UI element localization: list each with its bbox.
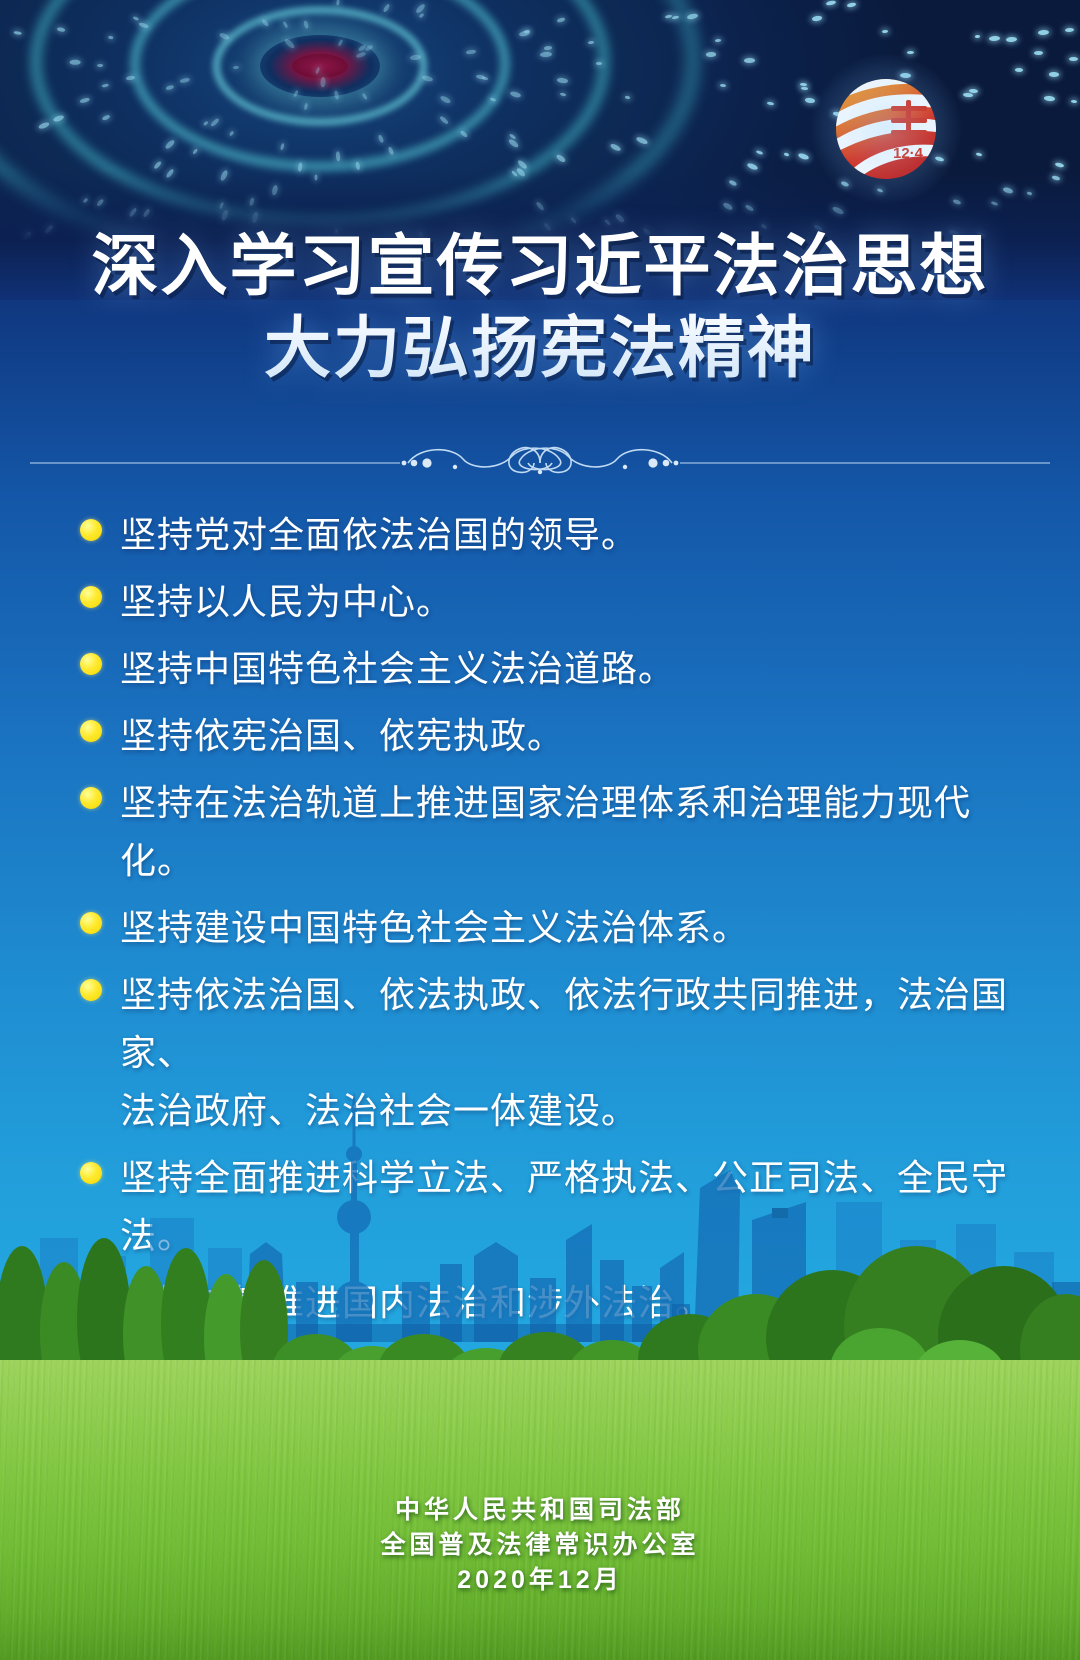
list-item: 坚持中国特色社会主义法治道路。 (64, 640, 1024, 698)
bullet-dot-icon (80, 979, 102, 1001)
list-item-text: 坚持以人民为中心。 (120, 582, 453, 622)
list-item-text: 坚持在法治轨道上推进国家治理体系和治理能力现代化。 (120, 783, 971, 881)
footer-line-2: 全国普及法律常识办公室 (0, 1528, 1080, 1563)
poster-root: 12·4 深入学习宣传习近平法治思想 大力弘扬宪法精神 (0, 0, 1080, 1660)
list-item: 坚持党对全面依法治国的领导。 (64, 506, 1024, 564)
emblem-glow (811, 54, 961, 204)
list-item: 坚持建设中国特色社会主义法治体系。 (64, 899, 1024, 957)
bullet-dot-icon (80, 912, 102, 934)
bullet-dot-icon (80, 586, 102, 608)
list-item-text: 坚持中国特色社会主义法治道路。 (120, 649, 675, 689)
list-item-text: 坚持党对全面依法治国的领导。 (120, 515, 638, 555)
footer-credits: 中华人民共和国司法部 全国普及法律常识办公室 2020年12月 (0, 1493, 1080, 1598)
list-item: 坚持依宪治国、依宪执政。 (64, 707, 1024, 765)
ornamental-divider (0, 432, 1080, 480)
divider-svg (0, 432, 1080, 480)
constitution-day-emblem-icon: 12·4 (833, 76, 939, 182)
bullet-dot-icon (80, 519, 102, 541)
footer-line-3: 2020年12月 (0, 1563, 1080, 1598)
list-item-text: 坚持依宪治国、依宪执政。 (120, 716, 564, 756)
bullet-dot-icon (80, 653, 102, 675)
title-line-1: 深入学习宣传习近平法治思想 (92, 229, 989, 304)
footer-line-1: 中华人民共和国司法部 (0, 1493, 1080, 1528)
list-item: 坚持以人民为中心。 (64, 573, 1024, 631)
list-item-text: 坚持建设中国特色社会主义法治体系。 (120, 908, 749, 948)
bullet-dot-icon (80, 720, 102, 742)
poster-title: 深入学习宣传习近平法治思想 大力弘扬宪法精神 (0, 226, 1080, 390)
bullet-dot-icon (80, 787, 102, 809)
list-item: 坚持在法治轨道上推进国家治理体系和治理能力现代化。 (64, 774, 1024, 890)
title-line-2: 大力弘扬宪法精神 (0, 308, 1080, 390)
